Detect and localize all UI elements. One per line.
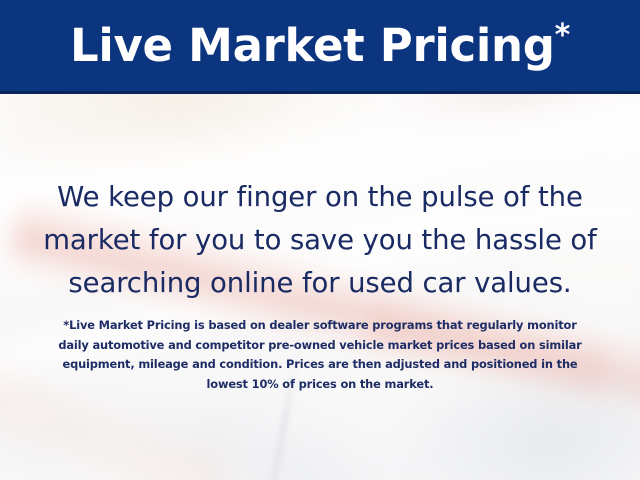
disclaimer-block: *Live Market Pricing is based on dealer … [20,316,620,394]
header-banner: Live Market Pricing* [0,0,640,91]
page-title-asterisk: * [555,18,570,53]
page-title: Live Market Pricing* [70,21,570,71]
disclaimer-line-3: equipment, mileage and condition. Prices… [20,355,620,375]
headline-line-1: We keep our finger on the pulse of the [26,176,614,219]
live-market-pricing-slide: Live Market Pricing* We keep our finger … [0,0,640,480]
disclaimer-line-1: *Live Market Pricing is based on dealer … [20,316,620,336]
header-bottom-rule [0,91,640,94]
headline-line-2: market for you to save you the hassle of [26,219,614,262]
page-title-text: Live Market Pricing [70,19,555,72]
headline-block: We keep our finger on the pulse of the m… [26,176,614,305]
headline-line-3: searching online for used car values. [26,262,614,305]
disclaimer-line-2: daily automotive and competitor pre-owne… [20,336,620,356]
disclaimer-line-4: lowest 10% of prices on the market. [20,375,620,395]
